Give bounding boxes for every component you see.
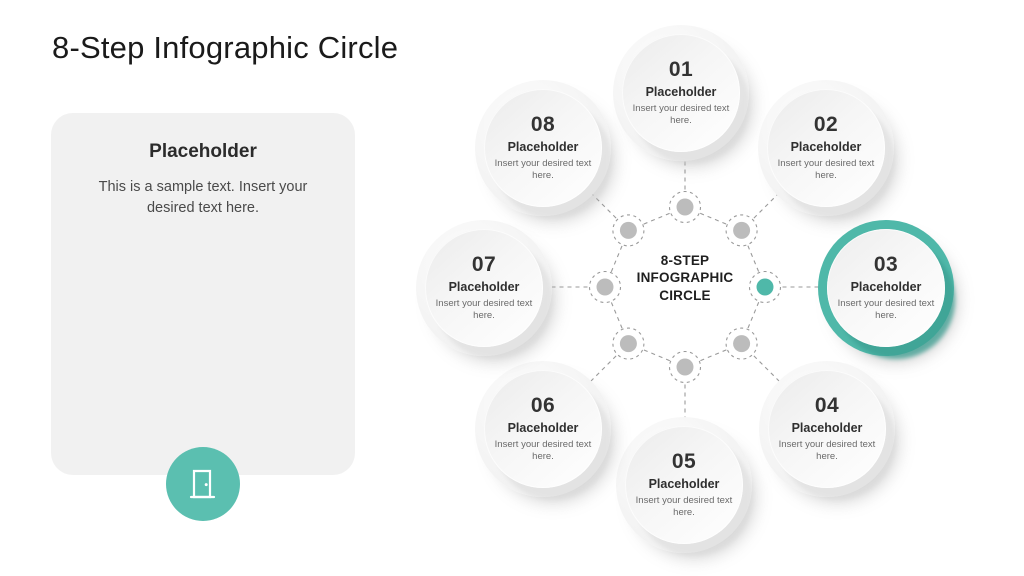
hub-center-label: 8-STEP INFOGRAPHIC CIRCLE: [615, 252, 755, 304]
step-node-04[interactable]: 04PlaceholderInsert your desired text he…: [768, 370, 886, 488]
step-node-disc: 01PlaceholderInsert your desired text he…: [622, 34, 740, 152]
step-description: Insert your desired text here.: [834, 298, 938, 322]
step-title: Placeholder: [508, 141, 579, 155]
hub-label-line-2: INFOGRAPHIC: [615, 269, 755, 286]
step-node-08[interactable]: 08PlaceholderInsert your desired text he…: [484, 89, 602, 207]
step-node-03[interactable]: 03PlaceholderInsert your desired text he…: [827, 229, 945, 347]
step-description: Insert your desired text here.: [774, 158, 878, 182]
step-node-02[interactable]: 02PlaceholderInsert your desired text he…: [767, 89, 885, 207]
step-number: 01: [669, 59, 693, 80]
hub-dot-ring-05: [670, 352, 701, 383]
step-number: 04: [815, 395, 839, 416]
step-title: Placeholder: [791, 141, 862, 155]
step-number: 06: [531, 395, 555, 416]
step-node-disc: 02PlaceholderInsert your desired text he…: [767, 89, 885, 207]
step-description: Insert your desired text here.: [432, 298, 536, 322]
step-node-disc: 07PlaceholderInsert your desired text he…: [425, 229, 543, 347]
step-node-01[interactable]: 01PlaceholderInsert your desired text he…: [622, 34, 740, 152]
step-number: 03: [874, 254, 898, 275]
step-node-disc: 04PlaceholderInsert your desired text he…: [768, 370, 886, 488]
hub-dot-06[interactable]: [620, 335, 637, 352]
hub-dot-04[interactable]: [733, 335, 750, 352]
step-description: Insert your desired text here.: [632, 495, 736, 519]
step-node-disc: 08PlaceholderInsert your desired text he…: [484, 89, 602, 207]
step-number: 07: [472, 254, 496, 275]
hub-dot-ring-08: [613, 215, 644, 246]
hub-dot-ring-04: [726, 328, 757, 359]
hub-dot-05[interactable]: [677, 359, 694, 376]
hub-dot-02[interactable]: [733, 222, 750, 239]
step-description: Insert your desired text here.: [491, 439, 595, 463]
step-number: 02: [814, 114, 838, 135]
step-title: Placeholder: [646, 86, 717, 100]
step-node-disc: 03PlaceholderInsert your desired text he…: [827, 229, 945, 347]
hub-dot-ring-06: [613, 328, 644, 359]
hub-dot-03[interactable]: [757, 279, 774, 296]
hub-edge: [644, 213, 670, 224]
hub-label-line-3: CIRCLE: [615, 287, 755, 304]
hub-edge: [748, 302, 759, 328]
hub-label-line-1: 8-STEP: [615, 252, 755, 269]
hub-dot-ring-02: [726, 215, 757, 246]
hub-edge: [700, 213, 726, 224]
step-node-disc: 05PlaceholderInsert your desired text he…: [625, 426, 743, 544]
hub-dot-ring-01: [670, 192, 701, 223]
step-title: Placeholder: [649, 478, 720, 492]
hub-edge: [700, 350, 726, 361]
step-title: Placeholder: [449, 281, 520, 295]
step-node-06[interactable]: 06PlaceholderInsert your desired text he…: [484, 370, 602, 488]
step-title: Placeholder: [508, 422, 579, 436]
step-number: 08: [531, 114, 555, 135]
step-description: Insert your desired text here.: [775, 439, 879, 463]
hub-dot-08[interactable]: [620, 222, 637, 239]
step-node-disc: 06PlaceholderInsert your desired text he…: [484, 370, 602, 488]
hub-edge: [611, 302, 622, 328]
step-description: Insert your desired text here.: [629, 103, 733, 127]
step-node-07[interactable]: 07PlaceholderInsert your desired text he…: [425, 229, 543, 347]
step-number: 05: [672, 451, 696, 472]
step-title: Placeholder: [792, 422, 863, 436]
hub-dot-01[interactable]: [677, 199, 694, 216]
step-description: Insert your desired text here.: [491, 158, 595, 182]
hub-edge: [644, 350, 670, 361]
step-title: Placeholder: [851, 281, 922, 295]
hub-dot-07[interactable]: [597, 279, 614, 296]
step-node-05[interactable]: 05PlaceholderInsert your desired text he…: [625, 426, 743, 544]
infographic-diagram: 8-STEP INFOGRAPHIC CIRCLE 01PlaceholderI…: [0, 0, 1024, 576]
